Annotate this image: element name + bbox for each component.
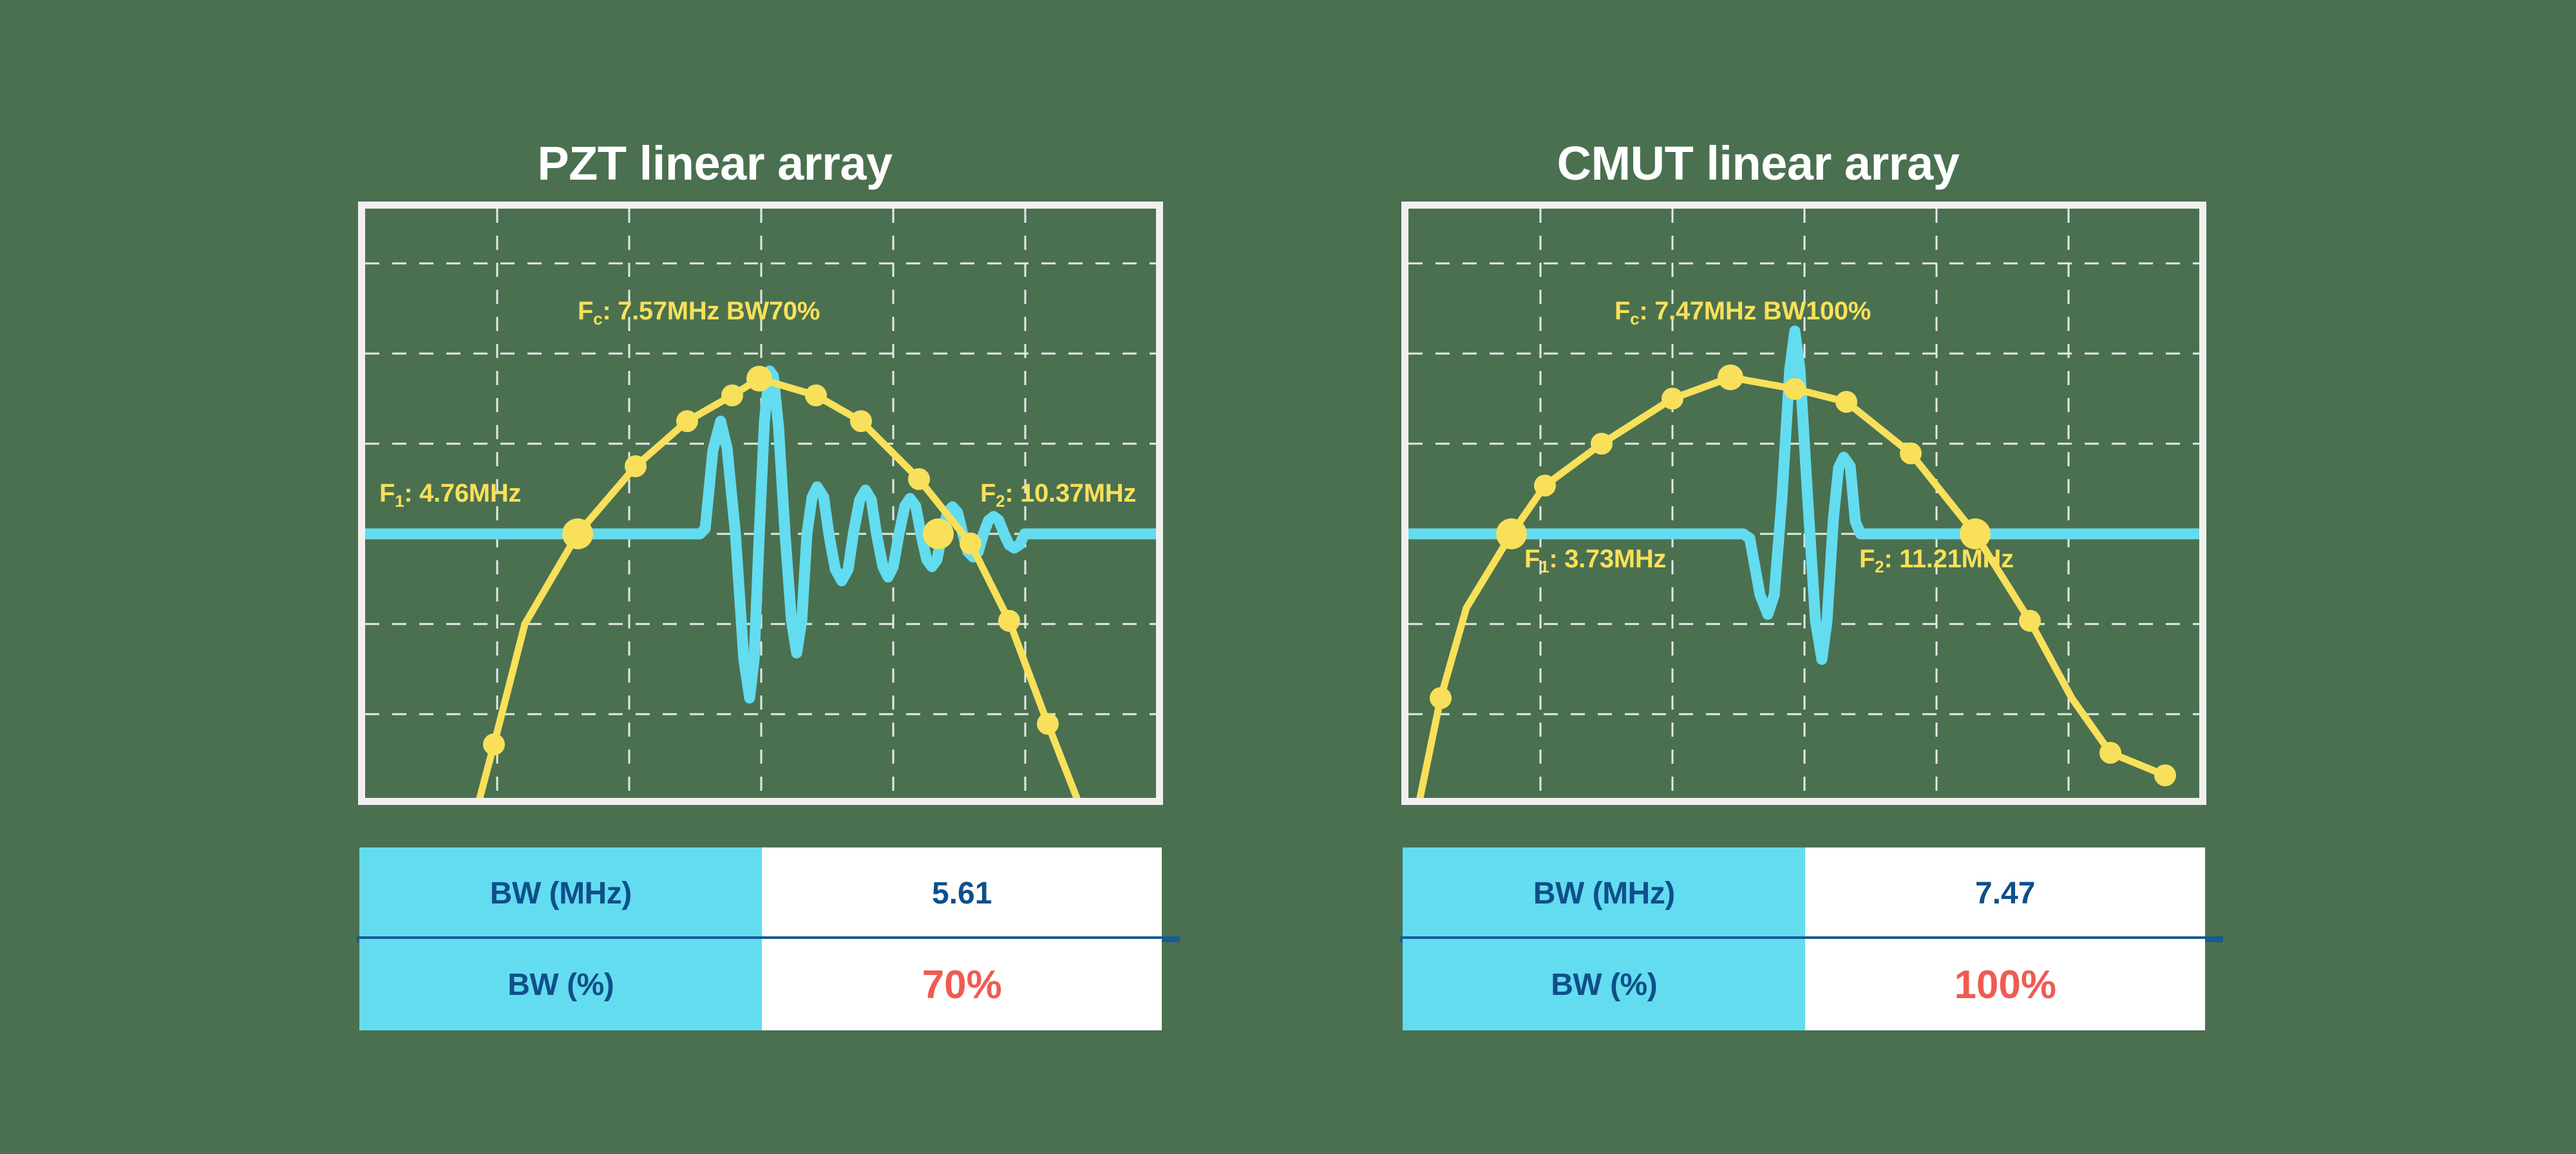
annotation-f1-symbol-pzt: F — [379, 479, 395, 507]
annotation-f2-symbol-pzt: F — [980, 479, 996, 507]
annotation-f1-value-cmut: : 3.73MHz — [1549, 545, 1666, 573]
annotation-f2-subscript-pzt: 2 — [996, 491, 1005, 511]
annotation-f2-value-pzt: : 10.37MHz — [1005, 479, 1136, 507]
annotation-fc-value-pzt: : 7.57MHz BW70% — [602, 297, 820, 325]
annotation-f1-subscript-pzt: 1 — [395, 491, 404, 511]
chart-frame-pzt: Fc: 7.57MHz BW70% F1: 4.76MHz F2: 10.37M… — [358, 202, 1163, 805]
table-cell-value: 7.47 — [1805, 847, 2205, 939]
panel-title-pzt: PZT linear array — [258, 136, 1172, 191]
annotation-f2-value-cmut: : 11.21MHz — [1884, 545, 2014, 573]
panel-cmut: CMUT linear array — [1301, 0, 2267, 1154]
annotation-fc-subscript-pzt: c — [593, 309, 602, 328]
table-cell-label: BW (MHz) — [1403, 847, 1805, 939]
annotation-f1-subscript-cmut: 1 — [1540, 557, 1549, 576]
annotation-fc-pzt: Fc: 7.57MHz BW70% — [578, 297, 820, 326]
annotation-f1-symbol-cmut: F — [1524, 545, 1540, 573]
annotation-fc-cmut: Fc: 7.47MHz BW100% — [1615, 297, 1871, 326]
marker-fc-cmut — [1718, 364, 1743, 390]
annotation-fc-value-cmut: : 7.47MHz BW100% — [1639, 297, 1871, 325]
table-row: BW (MHz) 5.61 — [359, 847, 1162, 939]
table-cell-value-highlight: 70% — [762, 939, 1162, 1030]
annotation-fc-symbol-pzt: F — [578, 297, 593, 325]
bw-table-pzt: BW (MHz) 5.61 BW (%) 70% — [359, 847, 1162, 1030]
annotation-f1-pzt: F1: 4.76MHz — [379, 479, 521, 508]
table-row: BW (%) 70% — [359, 939, 1162, 1030]
chart-plot-area-cmut: Fc: 7.47MHz BW100% F1: 3.73MHz F2: 11.21… — [1408, 209, 2199, 798]
chart-frame-cmut: Fc: 7.47MHz BW100% F1: 3.73MHz F2: 11.21… — [1401, 202, 2206, 805]
table-cell-value: 5.61 — [762, 847, 1162, 939]
table-cell-label: BW (%) — [1403, 939, 1805, 1030]
annotation-fc-subscript-cmut: c — [1630, 309, 1639, 328]
spectrum-curve-cmut — [1420, 377, 2165, 798]
annotation-f2-symbol-cmut: F — [1859, 545, 1875, 573]
marker-fc-pzt — [746, 366, 772, 392]
annotation-f1-cmut: F1: 3.73MHz — [1524, 545, 1666, 574]
figure-canvas: PZT linear array — [0, 0, 2576, 1154]
annotation-f1-value-pzt: : 4.76MHz — [404, 479, 521, 507]
table-row: BW (%) 100% — [1403, 939, 2205, 1030]
marker-f1-cmut — [1496, 518, 1527, 549]
marker-f2-pzt — [923, 518, 954, 549]
table-cell-value-highlight: 100% — [1805, 939, 2205, 1030]
annotation-f2-pzt: F2: 10.37MHz — [980, 479, 1136, 508]
annotation-f2-cmut: F2: 11.21MHz — [1859, 545, 2014, 574]
annotation-fc-symbol-cmut: F — [1615, 297, 1630, 325]
table-cell-label: BW (MHz) — [359, 847, 762, 939]
table-cell-label: BW (%) — [359, 939, 762, 1030]
pulse-waveform-cmut — [1408, 331, 2199, 659]
bw-table-cmut: BW (MHz) 7.47 BW (%) 100% — [1403, 847, 2205, 1030]
panel-pzt: PZT linear array — [258, 0, 1224, 1154]
marker-f1-pzt — [562, 518, 593, 549]
panel-title-cmut: CMUT linear array — [1301, 136, 2215, 191]
table-row: BW (MHz) 7.47 — [1403, 847, 2205, 939]
chart-plot-area-pzt: Fc: 7.57MHz BW70% F1: 4.76MHz F2: 10.37M… — [365, 209, 1156, 798]
annotation-f2-subscript-cmut: 2 — [1875, 557, 1884, 576]
